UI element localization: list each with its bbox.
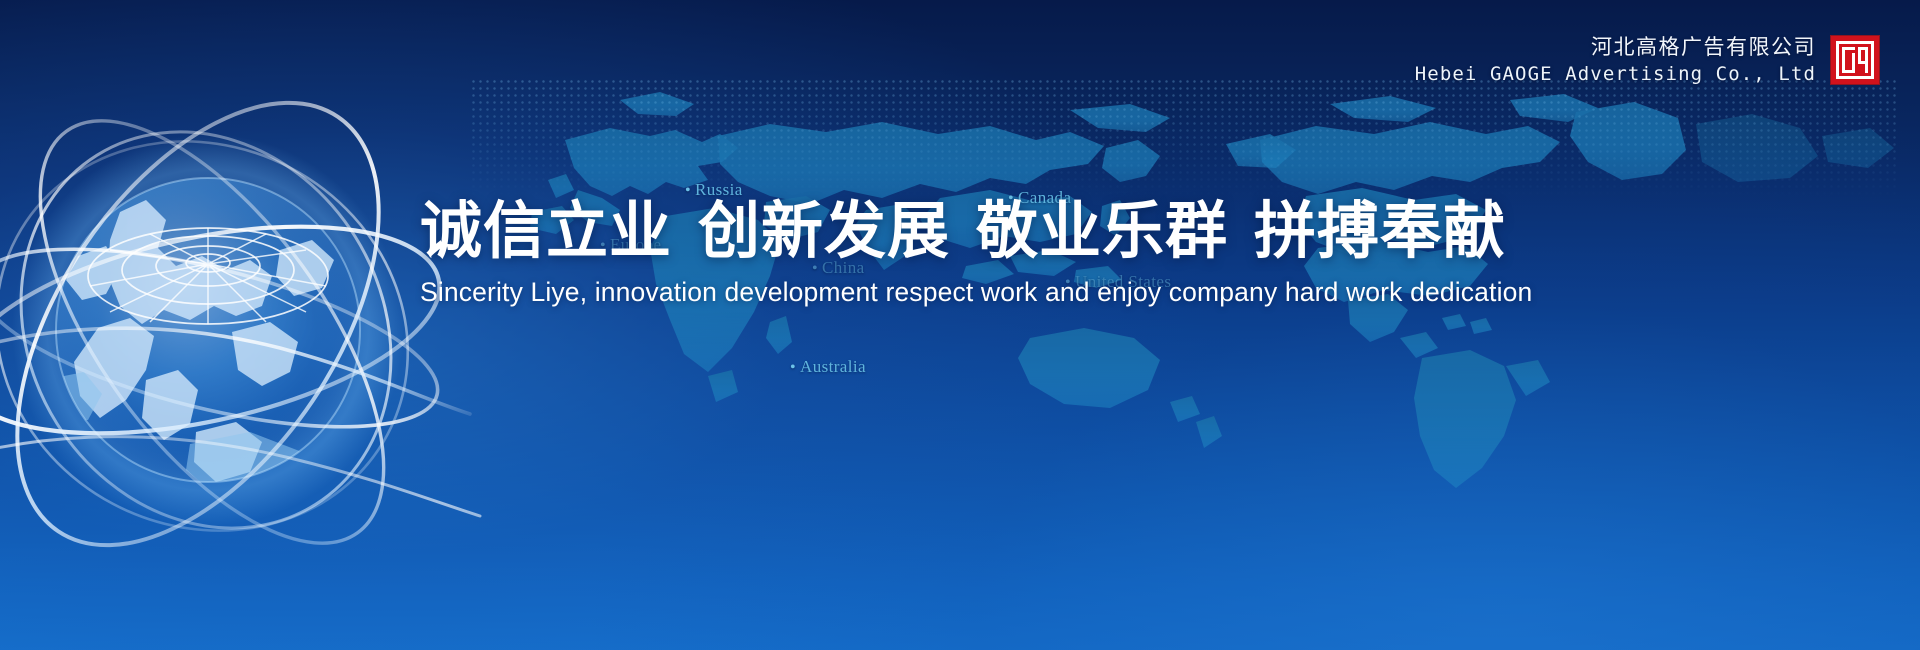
background-glow-secondary xyxy=(576,65,1920,650)
slogan-part-1: 诚信立业 xyxy=(420,194,672,267)
background-glow xyxy=(0,0,1248,650)
slogan-part-4: 拼搏奉献 xyxy=(1254,194,1506,267)
company-header: 河北高格广告有限公司 Hebei GAOGE Advertising Co., … xyxy=(1415,34,1880,87)
company-name-block: 河北高格广告有限公司 Hebei GAOGE Advertising Co., … xyxy=(1415,34,1816,87)
map-halftone-dots xyxy=(470,78,1900,198)
wireframe-globe-icon xyxy=(0,80,420,550)
slogan-part-3: 敬业乐群 xyxy=(976,194,1228,267)
map-label-australia: Australia xyxy=(790,357,866,377)
slogan-english: Sincerity Liye, innovation development r… xyxy=(420,277,1532,308)
company-banner: Russia Europe Canada United States China… xyxy=(0,0,1920,650)
company-name-en: Hebei GAOGE Advertising Co., Ltd xyxy=(1415,62,1816,87)
slogan-block: 诚信立业创新发展敬业乐群拼搏奉献 Sincerity Liye, innovat… xyxy=(420,196,1532,308)
gaoge-logo-icon xyxy=(1830,35,1880,85)
company-name-cn: 河北高格广告有限公司 xyxy=(1591,34,1816,62)
slogan-part-2: 创新发展 xyxy=(698,194,950,267)
slogan-chinese: 诚信立业创新发展敬业乐群拼搏奉献 xyxy=(420,196,1532,265)
